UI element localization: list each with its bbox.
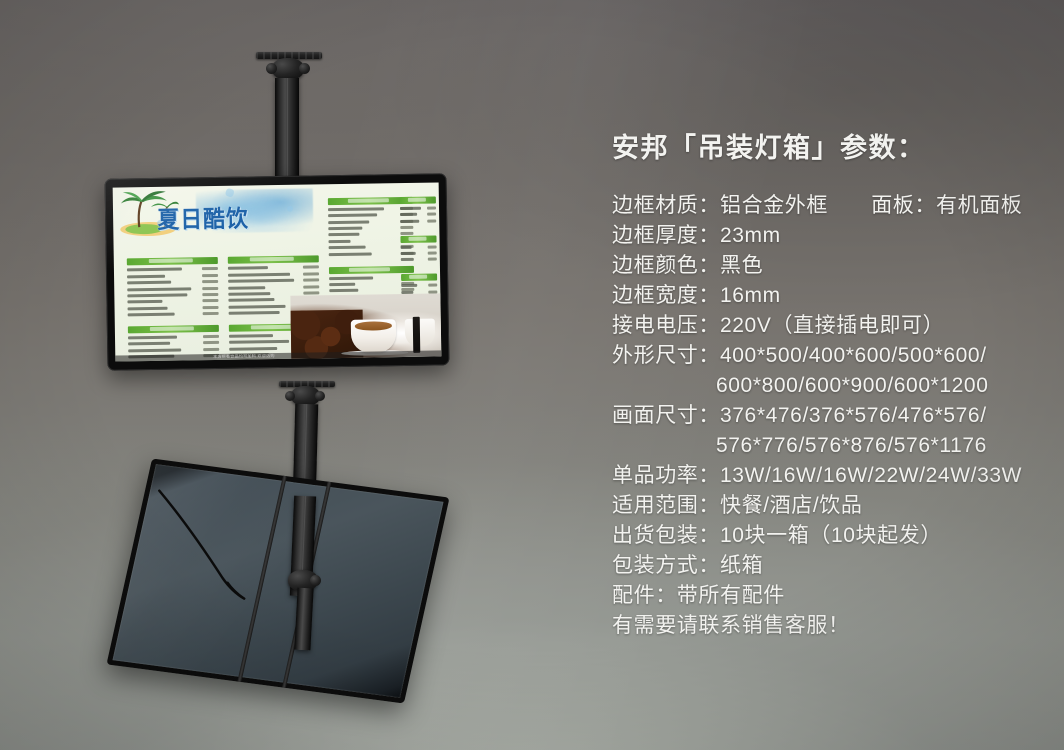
section-banner — [228, 256, 319, 264]
menu-row — [228, 277, 319, 283]
section-banner — [401, 274, 437, 282]
spec-line: 600*800/600*900/600*1200 — [612, 371, 1042, 401]
menu-row — [400, 212, 436, 218]
menu-row — [127, 292, 218, 298]
menu-row — [400, 218, 436, 224]
menu-section — [400, 235, 436, 262]
menu-column-1 — [127, 257, 220, 361]
section-banner — [128, 325, 219, 333]
menu-row — [401, 283, 437, 289]
spec-line: 画面尺寸：376*476/376*576/476*576/ — [612, 401, 1042, 431]
tilt-joint-knob — [310, 575, 321, 586]
spec-line: 接电电压：220V（直接插电即可） — [612, 311, 1042, 341]
menu-section — [401, 274, 437, 295]
spec-line: 适用范围：快餐/酒店/饮品 — [612, 491, 1042, 521]
spec-line: 出货包装：10块一箱（10块起发） — [612, 521, 1042, 551]
pivot-knob-lower-left — [285, 391, 295, 401]
menu-row — [128, 340, 219, 346]
section-banner — [127, 257, 218, 265]
spec-line-list: 边框材质：铝合金外框 面板：有机面板边框厚度：23mm边框颜色：黑色边框宽度：1… — [612, 191, 1042, 641]
menu-row — [127, 266, 218, 272]
pivot-knob-upper-right — [299, 63, 310, 74]
lightbox-back-unit — [106, 459, 449, 704]
menu-poster: 夏日酷饮 — [113, 182, 442, 361]
menu-row — [127, 298, 218, 304]
mount-foot-bar — [294, 588, 313, 651]
menu-section — [127, 257, 219, 317]
spec-line: 边框宽度：16mm — [612, 281, 1042, 311]
spec-title: 安邦「吊装灯箱」参数： — [612, 126, 1042, 165]
spec-line: 单品功率：13W/16W/16W/22W/24W/33W — [612, 461, 1042, 491]
menu-row — [128, 334, 219, 340]
coffee-photo-dark-strip — [413, 317, 421, 353]
section-banner — [400, 196, 436, 204]
menu-row — [127, 279, 218, 285]
menu-row — [128, 305, 219, 311]
spec-line: 包装方式：纸箱 — [612, 551, 1042, 581]
spec-line: 边框厚度：23mm — [612, 221, 1042, 251]
menu-row — [127, 285, 218, 291]
telescoping-pole-upper — [275, 78, 299, 182]
pivot-knob-upper-left — [266, 63, 277, 74]
spec-line: 576*776/576*876/576*1176 — [612, 431, 1042, 461]
menu-row — [228, 265, 319, 271]
menu-row — [401, 251, 437, 257]
lightbox-front-frame: 夏日酷饮 — [105, 173, 450, 370]
menu-row — [128, 347, 219, 353]
menu-column-4 — [400, 196, 437, 298]
menu-footer-text: 本店所有饮品均可加料 欢迎选购 — [213, 353, 275, 360]
pole-seam — [287, 78, 288, 182]
spec-line: 外形尺寸：400*500/400*600/500*600/ — [612, 341, 1042, 371]
menu-title: 夏日酷饮 — [157, 201, 249, 236]
spec-line: 边框颜色：黑色 — [612, 251, 1042, 281]
spec-panel: 安邦「吊装灯箱」参数： 边框材质：铝合金外框 面板：有机面板边框厚度：23mm边… — [612, 126, 1042, 641]
spec-line: 有需要请联系销售客服！ — [612, 611, 1042, 641]
coffee-cup-primary — [351, 320, 396, 353]
product-photo: 夏日酷饮 — [0, 0, 560, 750]
menu-row — [128, 311, 219, 317]
spec-line: 边框材质：铝合金外框 面板：有机面板 — [612, 191, 1042, 221]
menu-row — [400, 205, 436, 211]
menu-row — [228, 284, 319, 290]
menu-row — [401, 257, 437, 263]
spec-line: 配件：带所有配件 — [612, 581, 1042, 611]
menu-section — [400, 196, 436, 223]
pivot-knob-lower-right — [315, 391, 325, 401]
menu-row — [400, 244, 436, 250]
menu-row — [228, 271, 319, 277]
section-banner — [400, 235, 436, 243]
coffee-photo — [290, 294, 441, 359]
menu-row — [127, 273, 218, 279]
